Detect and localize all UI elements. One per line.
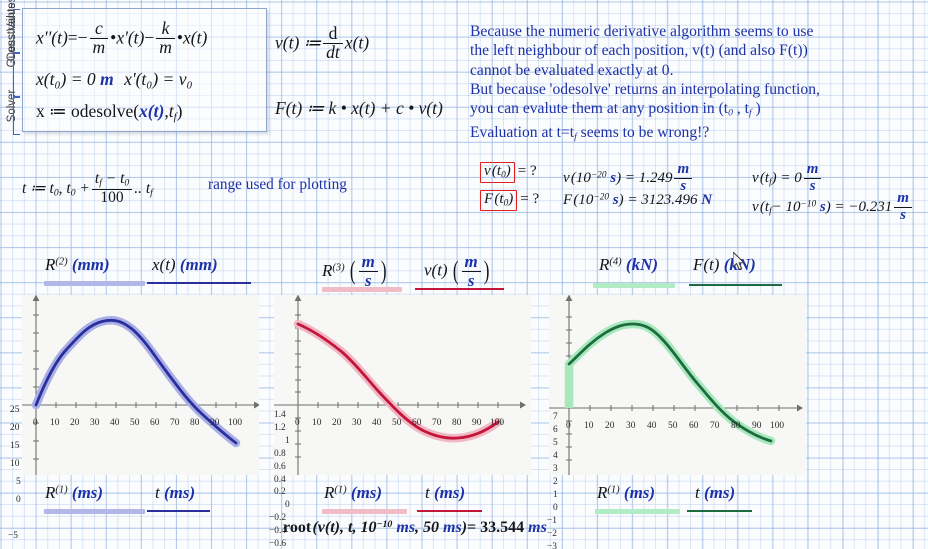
unit-m-per-s: ms bbox=[674, 162, 692, 194]
chart3-ytick-9: −2 bbox=[547, 529, 557, 539]
chart2-legend-left-swatch bbox=[322, 287, 402, 292]
chart1-xlabel-left: R(1) (ms) bbox=[45, 483, 103, 503]
eq3-arg1: x(t) bbox=[139, 101, 164, 121]
chart1-ytick-5: 0 bbox=[16, 495, 21, 505]
eval-v-tf[interactable]: v (tf) = 0ms bbox=[752, 163, 823, 195]
annotation-note: Because the numeric derivative algorithm… bbox=[470, 22, 922, 147]
chart3-xtick-3: 30 bbox=[626, 421, 635, 431]
chart1-xtick-10: 100 bbox=[228, 418, 242, 428]
chart1-legend-right: x(t) (mm) bbox=[152, 255, 218, 275]
chart2-ytick-0: 1.4 bbox=[274, 410, 286, 420]
chart2-ytick-3: 0.8 bbox=[274, 449, 286, 459]
eq2-unit: m bbox=[100, 69, 114, 89]
chart3-xlabel-left-swatch bbox=[595, 509, 680, 514]
v-def-lhs: v(t) ≔ bbox=[275, 32, 321, 52]
chart2-svg bbox=[274, 295, 531, 475]
chart3-ytick-7: 0 bbox=[553, 503, 558, 513]
chart2-xlabel-left: R(1) (ms) bbox=[324, 483, 382, 503]
chart3-ytick-8: −1 bbox=[547, 516, 557, 526]
chart3-xtick-9: 90 bbox=[752, 421, 761, 431]
eq1-sign2: − bbox=[144, 27, 154, 47]
chart1-xtick-5: 50 bbox=[130, 418, 139, 428]
eval-F-small[interactable]: F (10−20 s) = 3123.496 N bbox=[563, 192, 712, 209]
chart1-xlabel-right-swatch bbox=[147, 510, 210, 512]
root-expression[interactable]: root (v(t), t, 10−10 ms, 50 ms)= 33.544 … bbox=[283, 519, 547, 537]
chart1-xtick-3: 30 bbox=[90, 418, 99, 428]
root-equals: = 33.544 bbox=[467, 519, 524, 536]
eval-F-t0-result: = ? bbox=[520, 191, 539, 207]
chart2-xtick-7: 70 bbox=[432, 418, 441, 428]
chart3-plot-area[interactable] bbox=[549, 295, 806, 475]
chart1-xlabel-right: t (ms) bbox=[155, 483, 195, 503]
unit-m-per-s: ms bbox=[894, 191, 912, 223]
equation-odesolve[interactable]: x ≔ odesolve(x(t),tf) bbox=[36, 101, 182, 123]
chart3-ytick-0: 7 bbox=[553, 412, 558, 422]
eval-F-t0-boxed[interactable]: F (t0) bbox=[480, 190, 517, 211]
chart-velocity[interactable]: R(3) (ms) v(t) (ms) bbox=[272, 255, 540, 485]
chart3-xtick-2: 20 bbox=[605, 421, 614, 431]
chart1-xtick-6: 60 bbox=[150, 418, 159, 428]
eq3-assign: x ≔ odesolve( bbox=[36, 101, 139, 121]
eq1-frac2: km bbox=[156, 20, 175, 57]
chart1-legend-left: R(2) (mm) bbox=[45, 255, 110, 275]
chart1-xtick-2: 20 bbox=[70, 418, 79, 428]
chart3-svg bbox=[549, 295, 806, 475]
range-lhs: t ≔ t0, t0 + bbox=[22, 180, 90, 197]
chart3-xlabel-left: R(1) (ms) bbox=[597, 483, 655, 503]
chart2-ytick-5: 0.4 bbox=[274, 475, 286, 485]
chart3-legend-right-swatch bbox=[689, 284, 782, 286]
chart2-xtick-8: 80 bbox=[452, 418, 461, 428]
chart2-xtick-6: 60 bbox=[412, 418, 421, 428]
chart1-xlabel-left-swatch bbox=[44, 509, 145, 514]
solve-block-equation-box[interactable]: x''(t)=−cm•x'(t)−km•x(t) x(t₀) = 0 m x'(… bbox=[22, 8, 267, 132]
chart2-plot-area[interactable] bbox=[274, 295, 531, 475]
chart2-ytick-4: 0.6 bbox=[274, 462, 286, 472]
eval-v-t0-result: = ? bbox=[518, 163, 537, 179]
note-line-2: the left neighbour of each position, v(t… bbox=[470, 41, 922, 60]
chart1-plot-area[interactable] bbox=[22, 295, 259, 475]
chart3-xlabel-right: t (ms) bbox=[695, 483, 735, 503]
chart3-xtick-5: 50 bbox=[668, 421, 677, 431]
range-definition[interactable]: t ≔ t0, t0 +tf − t0100.. tf bbox=[22, 172, 153, 206]
note-line-6: Evaluation at t=tf seems to be wrong!? bbox=[470, 123, 922, 147]
chart2-xtick-10: 100 bbox=[490, 418, 504, 428]
chart1-legend-right-swatch bbox=[147, 282, 251, 284]
eq1-fn2: x(t) bbox=[183, 27, 207, 47]
chart2-xlabel-right: t (ms) bbox=[425, 483, 465, 503]
range-tail: .. tf bbox=[134, 180, 153, 197]
eq3-arg2: tf bbox=[169, 101, 177, 121]
chart-force[interactable]: R(4) (kN) F(t) (kN) bbox=[547, 255, 837, 485]
chart3-legend-left-swatch bbox=[593, 283, 675, 288]
note-line-5: you can evalute them at any position in … bbox=[470, 99, 922, 123]
eq1-frac1: cm bbox=[90, 20, 109, 57]
chart1-ytick-0: 25 bbox=[10, 405, 19, 415]
chart1-xtick-1: 10 bbox=[50, 418, 59, 428]
chart3-xtick-6: 60 bbox=[689, 421, 698, 431]
chart1-ytick-1: 20 bbox=[10, 423, 19, 433]
chart2-xtick-5: 50 bbox=[392, 418, 401, 428]
mouse-pointer-icon bbox=[733, 252, 746, 271]
eq1-fn1: x'(t) bbox=[116, 27, 144, 47]
chart2-xtick-1: 10 bbox=[312, 418, 321, 428]
eq2-right: x'(t₀) = v₀ bbox=[124, 69, 193, 89]
chart2-ytick-7: 0 bbox=[285, 500, 290, 510]
definition-force[interactable]: F(t) ≔ k • x(t) + c • v(t) bbox=[275, 98, 443, 119]
chart2-xtick-2: 20 bbox=[332, 418, 341, 428]
note-line-3: cannot be evaluated exactly at 0. bbox=[470, 61, 922, 80]
solve-bracket-3 bbox=[13, 97, 20, 135]
chart3-ytick-3: 4 bbox=[553, 451, 558, 461]
chart2-xtick-0: 0 bbox=[295, 418, 300, 428]
chart2-xlabel-left-swatch bbox=[322, 509, 407, 514]
eq1-eq: = bbox=[68, 27, 78, 47]
chart2-xtick-4: 40 bbox=[372, 418, 381, 428]
eq3-close: ) bbox=[177, 101, 183, 121]
chart3-legend-left: R(4) (kN) bbox=[599, 255, 658, 275]
v-def-derivative: ddt bbox=[323, 25, 343, 62]
chart3-ytick-6: 1 bbox=[553, 490, 558, 500]
chart3-ytick-1: 6 bbox=[553, 425, 558, 435]
v-def-arg: x(t) bbox=[345, 32, 369, 52]
chart3-xtick-10: 100 bbox=[770, 421, 784, 431]
chart2-ytick-1: 1.2 bbox=[274, 423, 286, 433]
chart3-ytick-5: 2 bbox=[553, 477, 558, 487]
chart3-xtick-8: 80 bbox=[731, 421, 740, 431]
chart1-ytick-2: 15 bbox=[10, 441, 19, 451]
chart1-xtick-9: 90 bbox=[210, 418, 219, 428]
unit-m-per-s: ms bbox=[804, 162, 822, 194]
chart2-xtick-9: 90 bbox=[472, 418, 481, 428]
chart1-svg bbox=[22, 295, 259, 475]
chart2-xlabel-right-swatch bbox=[417, 510, 482, 512]
equation-initial-conditions[interactable]: x(t₀) = 0 m x'(t₀) = v₀ bbox=[36, 69, 193, 90]
worksheet-canvas: Constraints Guess Values Solver x''(t)=−… bbox=[0, 0, 928, 549]
range-fraction: tf − t0100 bbox=[92, 171, 132, 205]
chart1-ytick-4: 5 bbox=[16, 477, 21, 487]
chart2-legend-right: v(t) (ms) bbox=[424, 254, 490, 290]
chart3-legend-right: F(t) (kN) bbox=[693, 255, 756, 275]
chart1-xtick-8: 80 bbox=[190, 418, 199, 428]
chart3-xtick-1: 10 bbox=[584, 421, 593, 431]
eq1-lhs: x''(t) bbox=[36, 27, 68, 47]
chart1-ytick-6: −5 bbox=[8, 531, 18, 541]
chart3-ytick-10: −3 bbox=[547, 542, 557, 549]
note-line-4: But because 'odesolve' returns an interp… bbox=[470, 80, 922, 99]
chart1-xtick-4: 40 bbox=[110, 418, 119, 428]
chart3-ytick-4: 3 bbox=[553, 464, 558, 474]
chart1-xtick-0: 0 bbox=[33, 418, 38, 428]
chart2-ytick-6: 0.2 bbox=[274, 487, 286, 497]
chart2-ytick-10: −0.6 bbox=[269, 539, 286, 549]
solve-block-labels: Constraints Guess Values Solver bbox=[0, 4, 16, 136]
note-line-1: Because the numeric derivative algorithm… bbox=[470, 22, 922, 41]
eval-F-t0[interactable]: F (t0)= ? bbox=[480, 190, 539, 211]
chart3-xtick-7: 70 bbox=[710, 421, 719, 431]
chart3-ytick-2: 5 bbox=[553, 438, 558, 448]
eq2-left: x(t₀) = 0 bbox=[36, 69, 96, 89]
chart2-legend-left: R(3) (ms) bbox=[322, 254, 388, 290]
eq1-sign1: − bbox=[78, 27, 88, 47]
chart2-xtick-3: 30 bbox=[352, 418, 361, 428]
eval-v-tf-minus[interactable]: v (tf− 10−10 s) = −0.231ms bbox=[752, 192, 914, 224]
root-unit: ms bbox=[528, 519, 547, 536]
equation-ode[interactable]: x''(t)=−cm•x'(t)−km•x(t) bbox=[36, 21, 207, 58]
root-fn: root bbox=[283, 519, 311, 536]
unit-newton: N bbox=[701, 192, 712, 208]
eval-v-t0[interactable]: v (t0)= ? bbox=[480, 162, 537, 183]
chart1-xtick-7: 70 bbox=[170, 418, 179, 428]
solve-bracket-1 bbox=[13, 9, 20, 53]
range-caption: range used for plotting bbox=[208, 176, 347, 194]
chart2-legend-right-swatch bbox=[415, 288, 504, 290]
chart3-xtick-0: 0 bbox=[566, 421, 571, 431]
chart1-legend-left-swatch bbox=[44, 281, 145, 286]
definition-velocity[interactable]: v(t) ≔ddtx(t) bbox=[275, 26, 369, 63]
chart1-ytick-3: 10 bbox=[10, 459, 19, 469]
solve-bracket-2 bbox=[13, 53, 20, 97]
eval-v-t0-boxed[interactable]: v (t0) bbox=[480, 162, 515, 183]
chart2-ytick-2: 1 bbox=[285, 436, 290, 446]
chart3-xlabel-right-swatch bbox=[687, 510, 752, 512]
eval-v-small[interactable]: v (10−20 s) = 1.249ms bbox=[563, 163, 694, 195]
chart-displacement[interactable]: R(2) (mm) x(t) (mm) bbox=[0, 255, 268, 485]
chart3-xtick-4: 40 bbox=[647, 421, 656, 431]
